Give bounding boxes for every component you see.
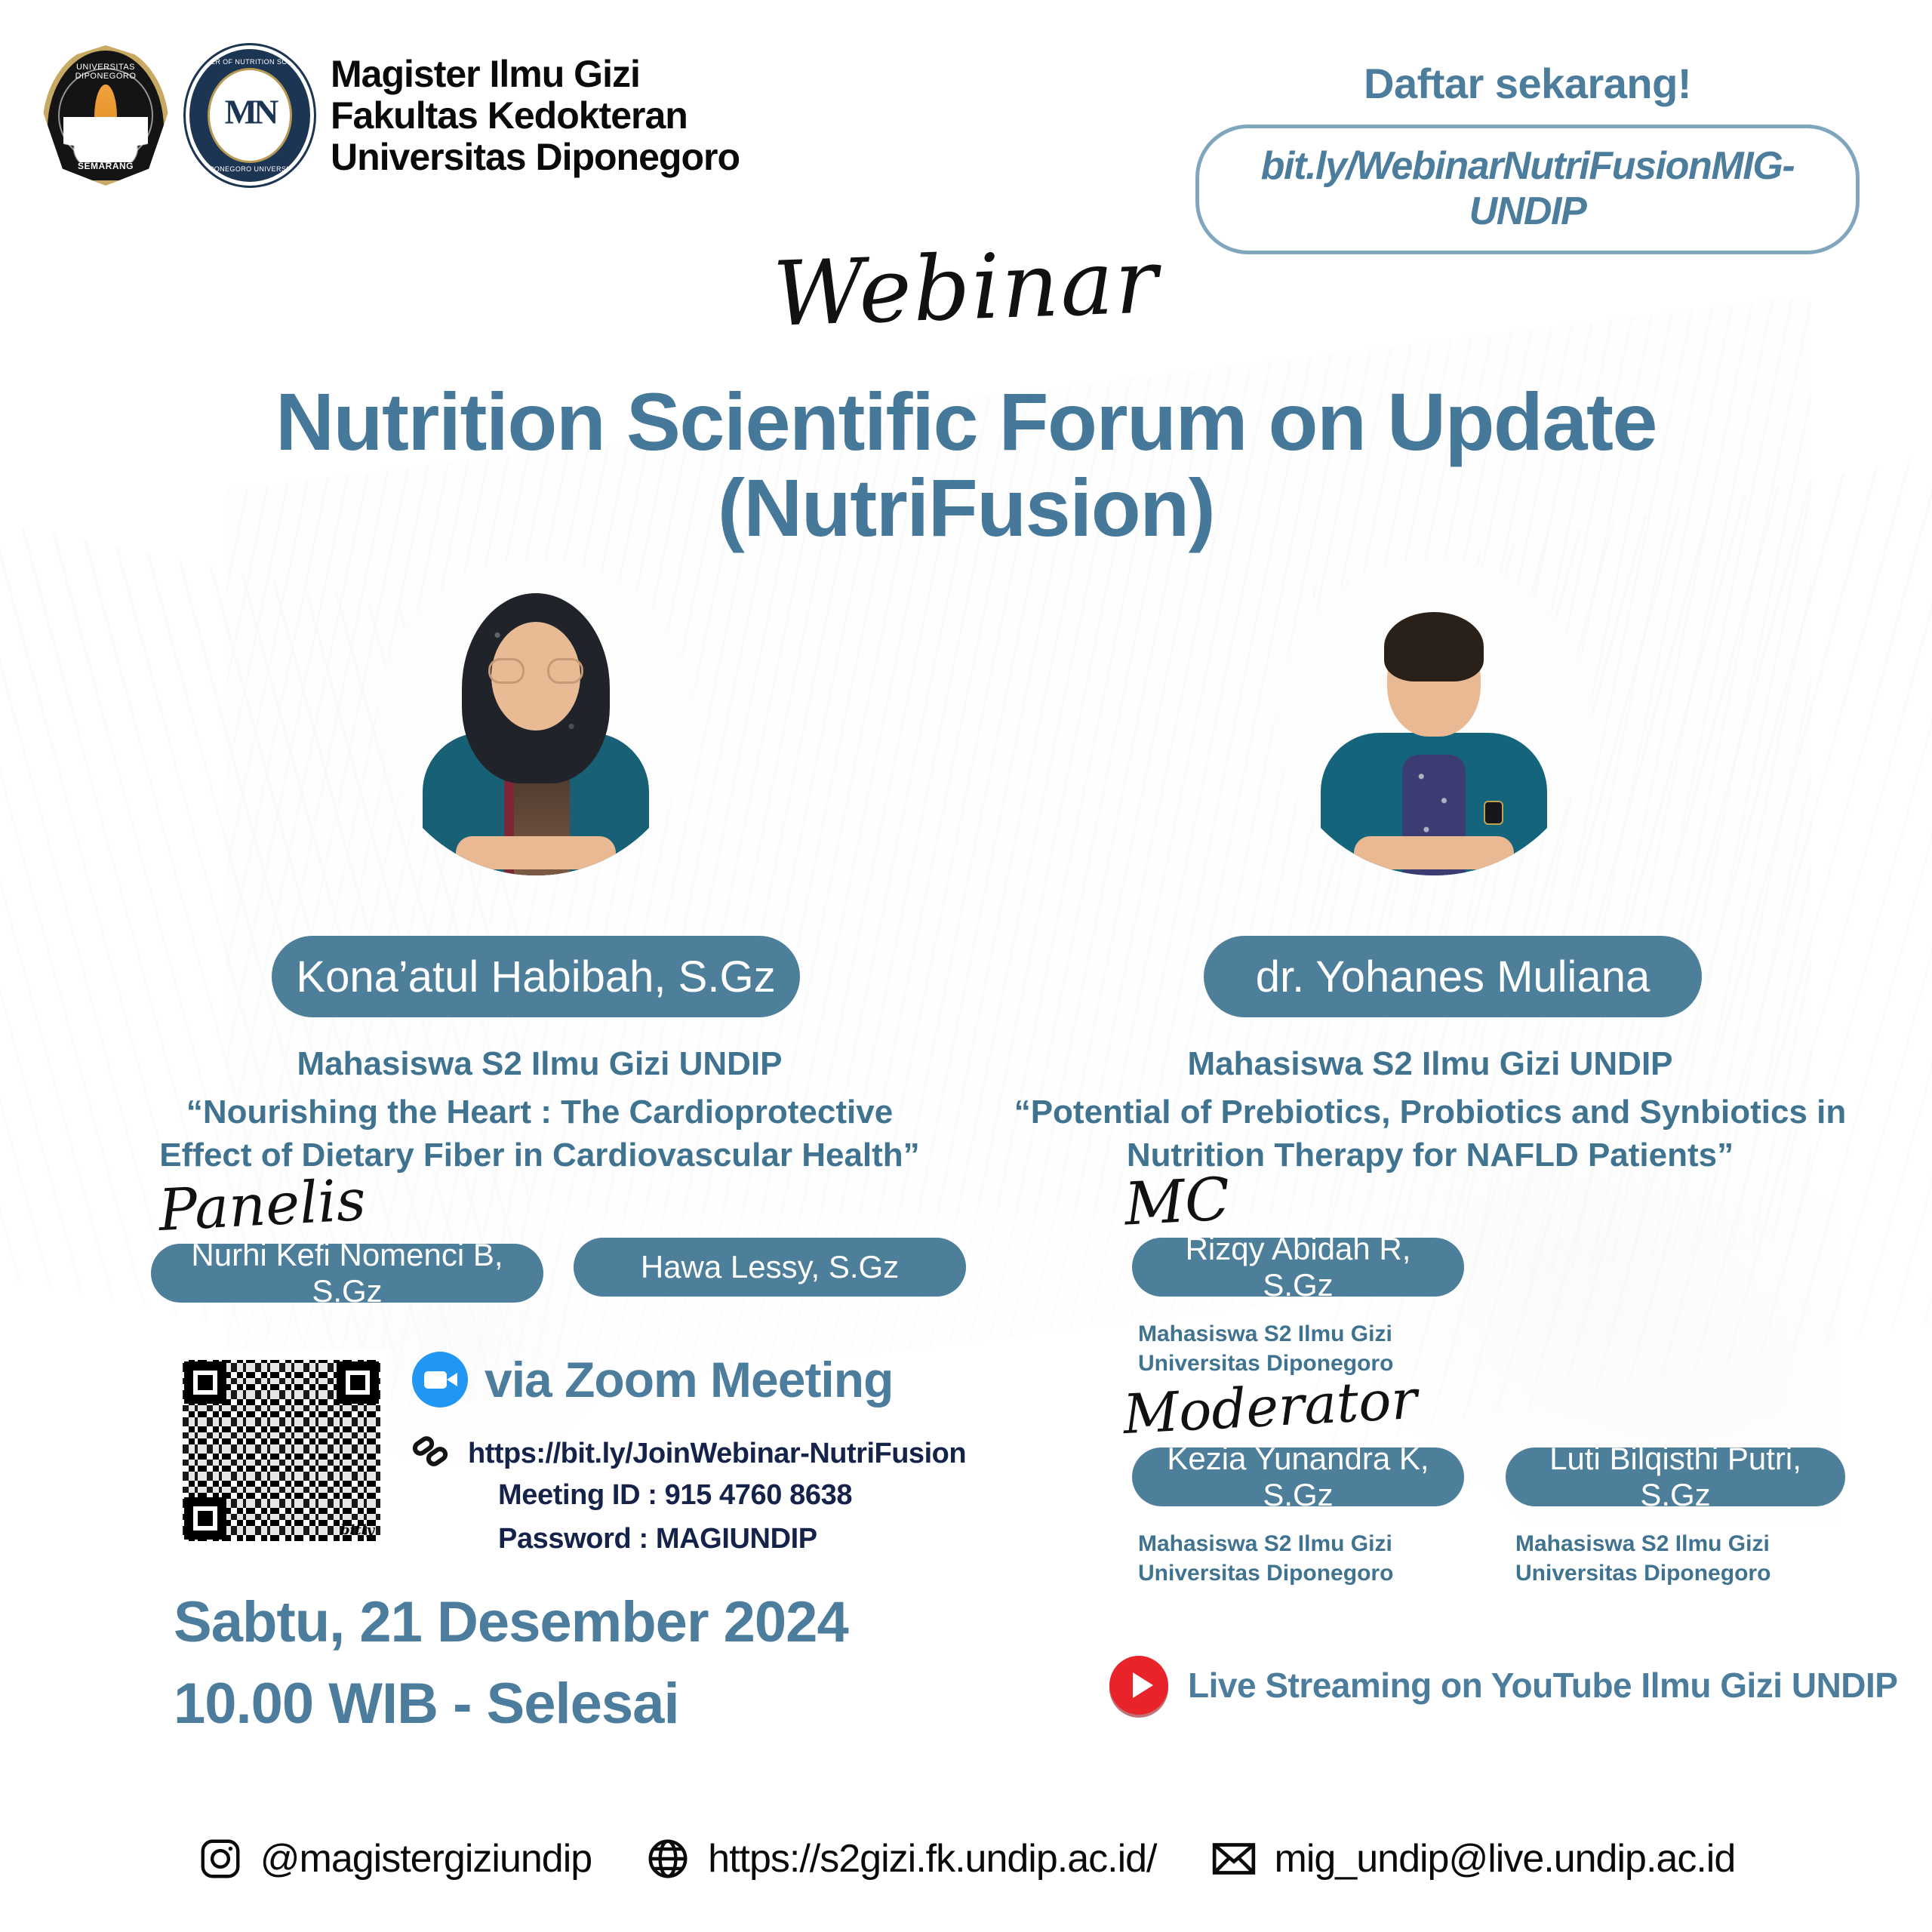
- event-datetime: Sabtu, 21 Desember 2024 10.00 WIB - Sele…: [174, 1582, 848, 1745]
- speaker-name-pill-right: dr. Yohanes Muliana: [1204, 936, 1702, 1017]
- mc-name-pill: Rizqy Abidah R, S.Gz: [1132, 1238, 1464, 1297]
- panelis-section-label: Panelis: [157, 1166, 368, 1244]
- header-brand: UNIVERSITAS DIPONEGORO SEMARANG MASTER O…: [42, 45, 740, 186]
- qr-finder-top-left: [184, 1361, 226, 1404]
- youtube-play-icon: [1109, 1656, 1168, 1715]
- webinar-poster: UNIVERSITAS DIPONEGORO SEMARANG MASTER O…: [0, 0, 1932, 1932]
- register-cta-text: Daftar sekarang!: [1195, 59, 1860, 108]
- zoom-join-url[interactable]: https://bit.ly/JoinWebinar-NutriFusion: [468, 1438, 966, 1470]
- speaker-affiliation-right: Mahasiswa S2 Ilmu Gizi UNDIP: [981, 1043, 1879, 1084]
- undip-logo-bottom-text: SEMARANG: [48, 161, 164, 171]
- qr-finder-bottom-left: [184, 1497, 226, 1540]
- globe-icon: [645, 1835, 691, 1882]
- footer-email[interactable]: mig_undip@live.undip.ac.id: [1210, 1835, 1736, 1882]
- nutrition-logo-monogram: MN: [225, 91, 275, 131]
- footer-website[interactable]: https://s2gizi.fk.undip.ac.id/: [645, 1835, 1156, 1882]
- zoom-link-row[interactable]: https://bit.ly/JoinWebinar-NutriFusion: [412, 1437, 966, 1470]
- organization-title: Magister Ilmu Gizi Fakultas Kedokteran U…: [331, 54, 740, 178]
- nutrition-logo-top-text: MASTER OF NUTRITION SCIENCE: [189, 58, 310, 66]
- moderator-name-pill-2: Luti Bilqisthi Putri, S.Gz: [1506, 1447, 1845, 1506]
- youtube-livestream-row: Live Streaming on YouTube Ilmu Gizi UNDI…: [1109, 1656, 1898, 1715]
- qr-brand-label: bitly: [340, 1522, 374, 1538]
- footer-email-address: mig_undip@live.undip.ac.id: [1275, 1836, 1736, 1881]
- mc-affiliation: Mahasiswa S2 Ilmu Gizi Universitas Dipon…: [1138, 1319, 1393, 1378]
- moderator-affiliation-1: Mahasiswa S2 Ilmu Gizi Universitas Dipon…: [1138, 1529, 1393, 1588]
- panelis-name-pill-2: Hawa Lessy, S.Gz: [574, 1238, 966, 1297]
- speaker-meta-left: Mahasiswa S2 Ilmu Gizi UNDIP “Nourishing…: [113, 1043, 966, 1177]
- speaker-topic-right: “Potential of Prebiotics, Probiotics and…: [981, 1091, 1879, 1177]
- undip-logo-top-text: UNIVERSITAS DIPONEGORO: [48, 63, 164, 81]
- moderator-section-label: Moderator: [1121, 1367, 1419, 1446]
- zoom-title-text: via Zoom Meeting: [485, 1351, 893, 1408]
- speaker-name-pill-left: Kona’atul Habibah, S.Gz: [272, 936, 800, 1017]
- moderator-affiliation-2: Mahasiswa S2 Ilmu Gizi Universitas Dipon…: [1515, 1529, 1770, 1588]
- mc-section-label: MC: [1123, 1165, 1232, 1238]
- speaker-topic-left: “Nourishing the Heart : The Cardioprotec…: [113, 1091, 966, 1177]
- panelis-name-pill-1: Nurhi Kefi Nomenci B, S.Gz: [151, 1244, 543, 1303]
- nutrition-logo-bottom-text: DIPONEGORO UNIVERSITY: [189, 165, 310, 173]
- qr-finder-top-right: [337, 1361, 379, 1404]
- undip-logo-icon: UNIVERSITAS DIPONEGORO SEMARANG: [42, 45, 169, 186]
- page-title: Nutrition Scientific Forum on Update (Nu…: [0, 379, 1932, 552]
- qr-code[interactable]: bitly: [172, 1349, 391, 1552]
- nutrition-science-logo-icon: MASTER OF NUTRITION SCIENCE MN DIPONEGOR…: [186, 45, 314, 186]
- zoom-password: Password : MAGIUNDIP: [498, 1523, 817, 1555]
- speaker-photo-right: [1275, 558, 1592, 875]
- instagram-icon: [197, 1835, 244, 1882]
- video-camera-icon: [412, 1352, 468, 1407]
- footer-instagram-handle: @magistergiziundip: [260, 1836, 592, 1881]
- speaker-photo-left: [377, 558, 694, 875]
- footer-contacts: @magistergiziundip https://s2gizi.fk.und…: [0, 1835, 1932, 1882]
- youtube-livestream-text: Live Streaming on YouTube Ilmu Gizi UNDI…: [1188, 1665, 1898, 1706]
- qr-code-matrix: bitly: [183, 1360, 380, 1541]
- envelope-icon: [1210, 1835, 1258, 1882]
- speaker-affiliation-left: Mahasiswa S2 Ilmu Gizi UNDIP: [113, 1043, 966, 1084]
- moderator-name-pill-1: Kezia Yunandra K, S.Gz: [1132, 1447, 1464, 1506]
- speaker-meta-right: Mahasiswa S2 Ilmu Gizi UNDIP “Potential …: [981, 1043, 1879, 1177]
- footer-instagram[interactable]: @magistergiziundip: [197, 1835, 592, 1882]
- link-chain-icon: [412, 1437, 454, 1470]
- zoom-meeting-id: Meeting ID : 915 4760 8638: [498, 1479, 852, 1512]
- zoom-heading: via Zoom Meeting: [412, 1351, 893, 1408]
- webinar-script-label: Webinar: [0, 202, 1932, 373]
- footer-website-url: https://s2gizi.fk.undip.ac.id/: [708, 1836, 1156, 1881]
